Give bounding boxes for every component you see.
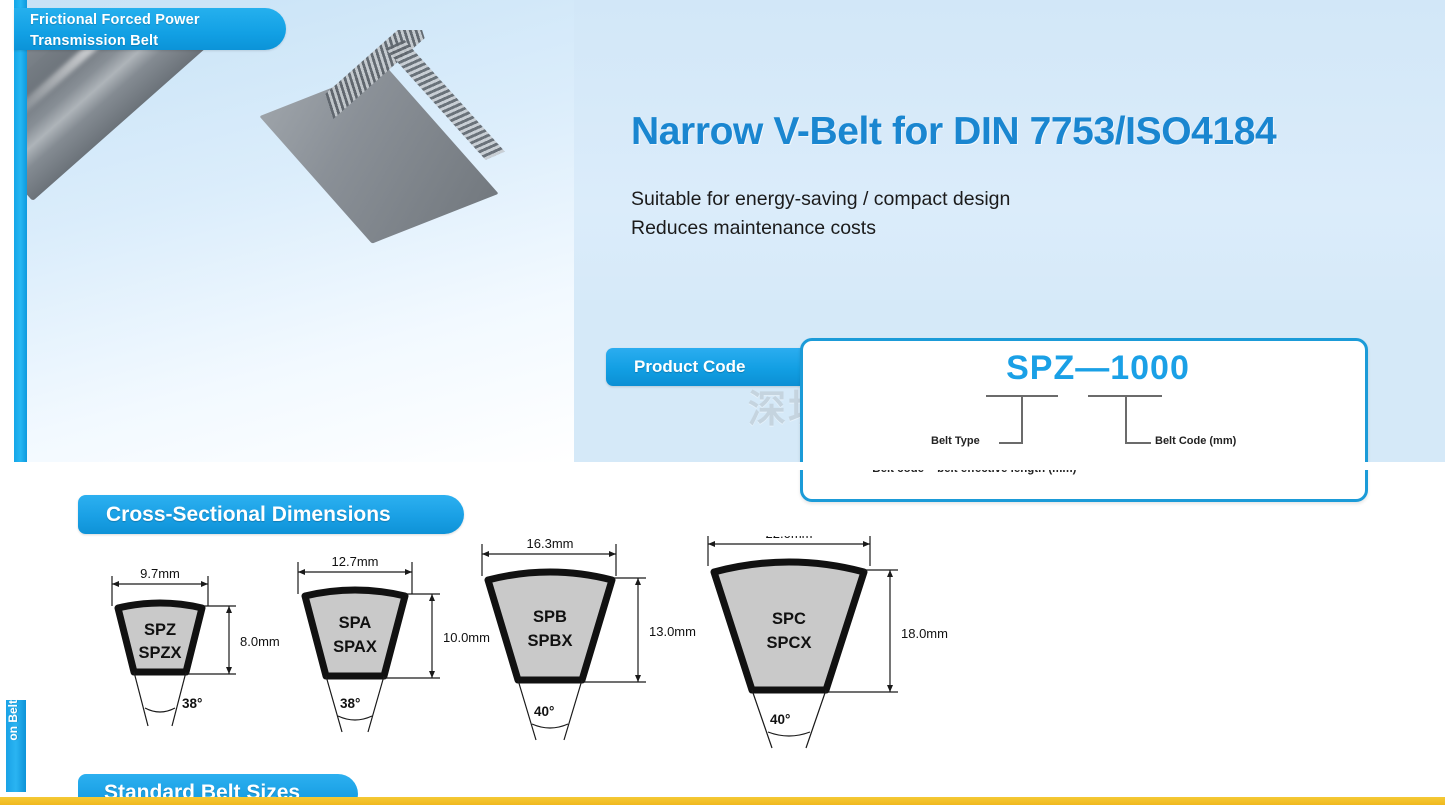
subtitle-line-1: Suitable for energy-saving / compact des… xyxy=(631,185,1331,214)
spc-height-label: 18.0mm xyxy=(901,626,948,641)
belt-type-label: Belt Type xyxy=(931,435,980,447)
spc-name-bottom: SPCX xyxy=(767,634,812,652)
spc-angle-label: 40° xyxy=(770,712,790,727)
spa-name-bottom: SPAX xyxy=(333,638,377,656)
subtitle-block: Suitable for energy-saving / compact des… xyxy=(631,185,1331,243)
header-tab-line2: Transmission Belt xyxy=(14,29,286,50)
belt-code-leader-horizontal xyxy=(1125,442,1151,444)
spa-width-label: 12.7mm xyxy=(332,554,379,569)
cross-section-spb: 16.3mm SPB SPBX 13.0mm 40° xyxy=(468,536,728,751)
belt-type-leader-vertical xyxy=(1021,395,1023,444)
spz-angle-label: 38° xyxy=(182,696,202,711)
page-title: Narrow V-Belt for DIN 7753/ISO4184 xyxy=(631,110,1421,154)
product-code-tab: Product Code xyxy=(606,348,816,386)
belt-code-leader-vertical xyxy=(1125,395,1127,444)
cross-section-tab: Cross-Sectional Dimensions xyxy=(78,495,464,534)
left-accent-bar xyxy=(14,0,27,462)
spz-height-label: 8.0mm xyxy=(240,634,280,649)
cross-section-diagrams: 9.7mm SPZ SPZX 8.0mm 38° xyxy=(0,536,1445,756)
header-tab: Frictional Forced Power Transmission Bel… xyxy=(14,8,286,50)
spc-width-label: 22.0mm xyxy=(766,536,813,541)
spz-name-bottom: SPZX xyxy=(138,644,181,662)
hero-divider xyxy=(0,462,1445,470)
datasheet-page: Frictional Forced Power Transmission Bel… xyxy=(0,0,1445,805)
belt-type-leader-horizontal xyxy=(999,442,1023,444)
left-white-margin xyxy=(0,0,14,462)
spb-name-bottom: SPBX xyxy=(528,632,573,650)
spz-width-label: 9.7mm xyxy=(140,566,180,581)
cross-section-spc: 22.0mm SPC SPCX 18.0mm 40° xyxy=(690,536,950,751)
spa-name-top: SPA xyxy=(339,614,372,632)
spb-angle-label: 40° xyxy=(534,704,554,719)
spb-width-label: 16.3mm xyxy=(527,536,574,551)
spb-height-label: 13.0mm xyxy=(649,624,696,639)
product-photo-backdrop xyxy=(18,0,574,462)
product-code-box: SPZ—1000 Belt Type Belt Code (mm) •Belt … xyxy=(800,338,1368,502)
hero-section: Frictional Forced Power Transmission Bel… xyxy=(0,0,1445,470)
side-vertical-tab: on Belt xyxy=(6,700,26,792)
product-code-tab-label: Product Code xyxy=(606,348,816,386)
bottom-accent-strip xyxy=(0,797,1445,805)
spc-name-top: SPC xyxy=(772,610,806,628)
subtitle-line-2: Reduces maintenance costs xyxy=(631,214,1331,243)
belt-code-label: Belt Code (mm) xyxy=(1155,435,1236,447)
product-code-value: SPZ—1000 xyxy=(978,349,1218,388)
header-tab-line1: Frictional Forced Power xyxy=(14,8,286,29)
belt-cut-end-face xyxy=(259,66,498,243)
spa-angle-label: 38° xyxy=(340,696,360,711)
v-belt-photo xyxy=(18,30,593,450)
cross-section-tab-label: Cross-Sectional Dimensions xyxy=(78,495,464,534)
spz-name-top: SPZ xyxy=(144,621,176,639)
side-vertical-tab-label: on Belt xyxy=(6,700,23,747)
spb-name-top: SPB xyxy=(533,608,567,626)
